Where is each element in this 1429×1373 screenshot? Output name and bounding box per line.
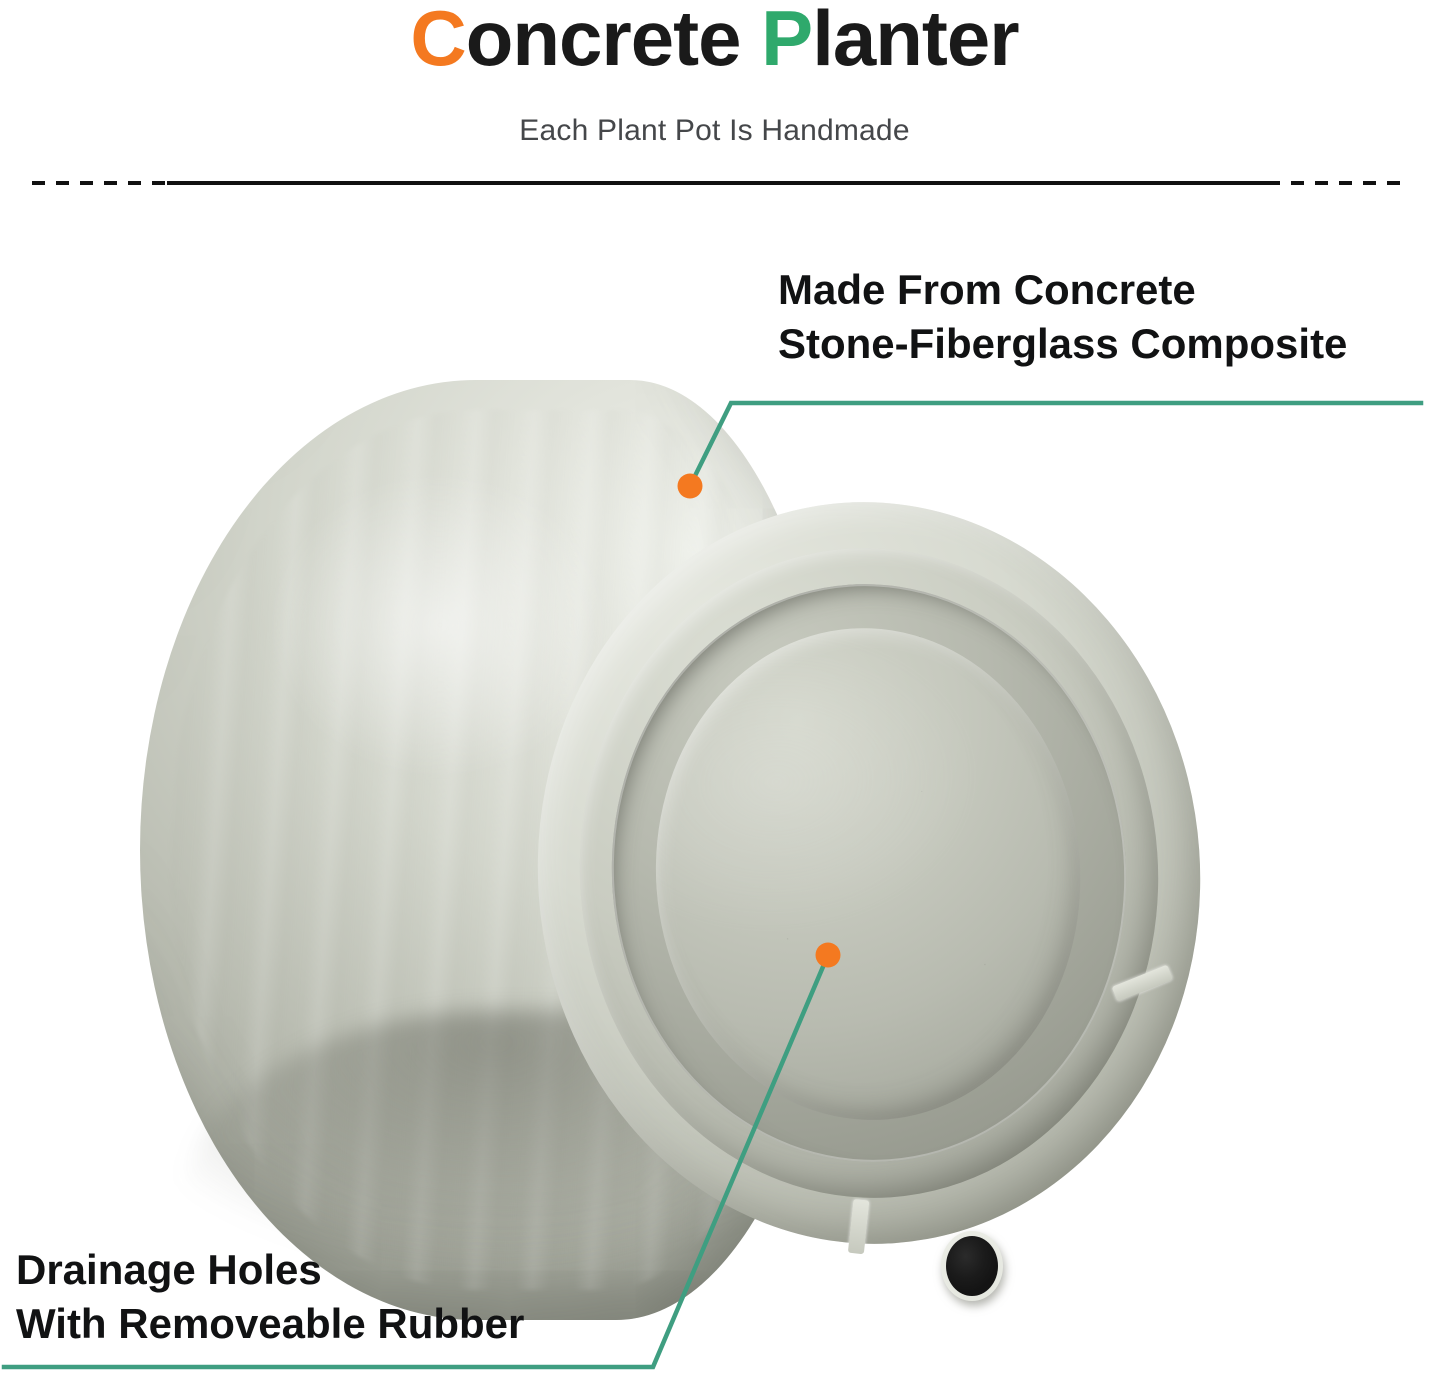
divider-dashed-left [32, 181, 167, 185]
planter-base-face [513, 480, 1225, 1266]
product-infographic-page: Concrete Planter Each Plant Pot Is Handm… [0, 0, 1429, 1373]
header-divider [32, 181, 1401, 186]
header: Concrete Planter Each Plant Pot Is Handm… [0, 0, 1429, 170]
title-accent-letter-p: P [761, 0, 812, 82]
callout-material-line-2: Stone-Fiberglass Composite [778, 317, 1347, 371]
callout-label-drainage: Drainage Holes With Removeable Rubber [16, 1243, 524, 1351]
title-accent-letter-c: C [410, 0, 465, 82]
callout-drainage-line-2: With Removeable Rubber [16, 1297, 524, 1351]
callout-label-material: Made From Concrete Stone-Fiberglass Comp… [778, 263, 1347, 371]
title-word-planter-rest: lanter [812, 0, 1018, 82]
product-photo [0, 215, 1429, 1373]
page-title: Concrete Planter [0, 0, 1429, 80]
divider-solid-middle [167, 181, 1267, 185]
callout-material-line-1: Made From Concrete [778, 263, 1347, 317]
drainage-hole [946, 1236, 998, 1296]
divider-dashed-right [1267, 181, 1401, 185]
title-word-concrete-rest: oncrete [466, 0, 761, 82]
concrete-planter-object [140, 370, 1200, 1370]
callout-drainage-line-1: Drainage Holes [16, 1243, 524, 1297]
page-subtitle: Each Plant Pot Is Handmade [0, 114, 1429, 148]
